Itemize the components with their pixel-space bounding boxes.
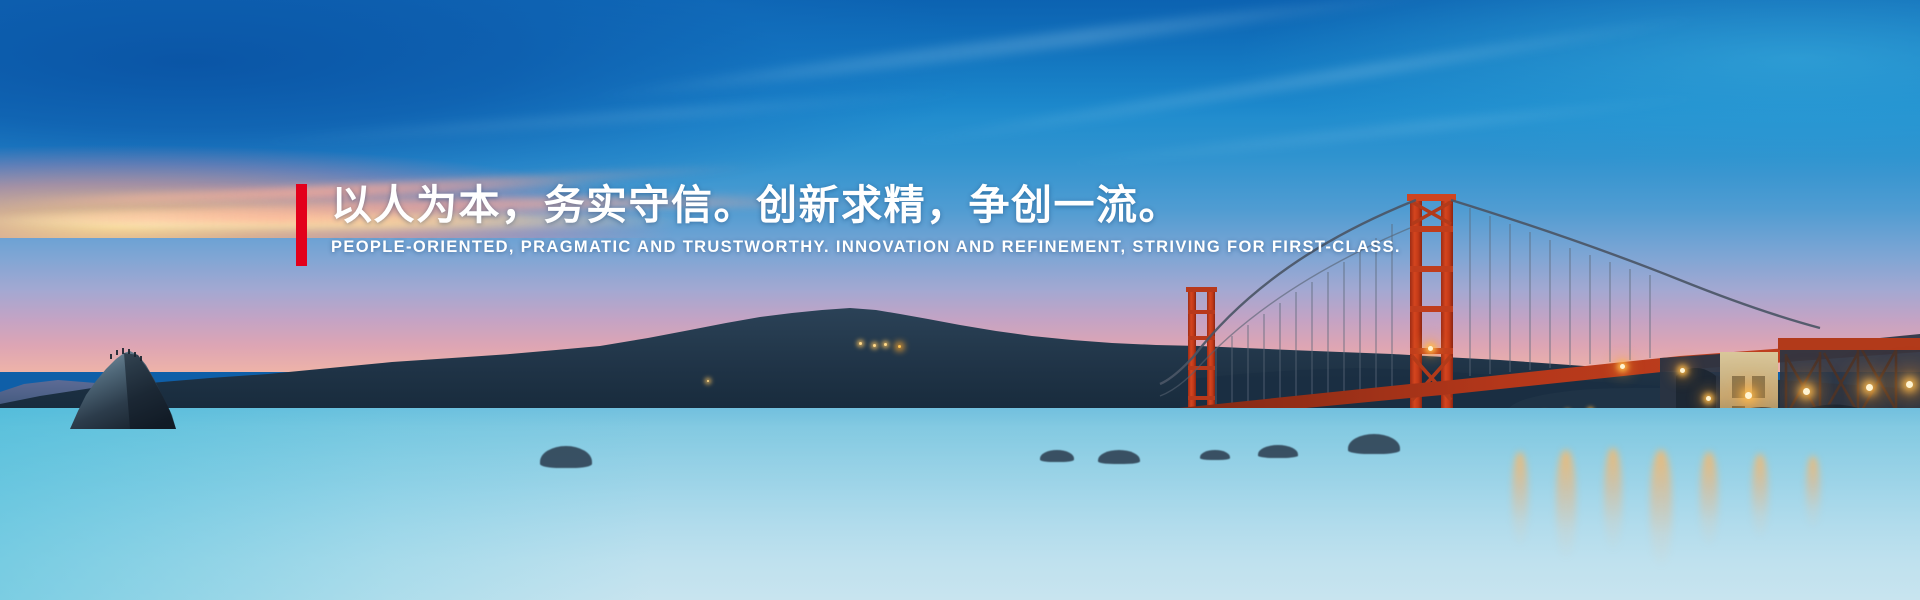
deck-light <box>1680 368 1685 373</box>
sea-rock <box>1200 450 1230 460</box>
deck-light <box>1620 364 1625 369</box>
page-subtitle: PEOPLE-ORIENTED, PRAGMATIC AND TRUSTWORT… <box>331 238 1401 258</box>
lamp-post-light <box>1803 388 1810 395</box>
ridge-light <box>707 380 709 382</box>
sea-rock <box>1098 450 1140 464</box>
ridge-light <box>884 343 887 346</box>
hero-copy-block: 以人为本，务实守信。创新求精，争创一流。 PEOPLE-ORIENTED, PR… <box>296 184 1401 266</box>
light-reflection <box>1604 448 1622 552</box>
water-surface <box>0 408 1920 600</box>
tower-beacon-light <box>1428 346 1433 351</box>
lamp-post-light <box>1706 396 1711 401</box>
light-reflection <box>1650 450 1672 568</box>
lamp-post-light <box>1906 381 1913 388</box>
light-reflection <box>1806 456 1820 530</box>
light-reflection <box>1512 452 1528 548</box>
sea-rock <box>1258 445 1298 458</box>
light-reflection <box>1752 454 1768 540</box>
lamp-post-light <box>1866 384 1873 391</box>
water-left-tint <box>0 408 653 600</box>
hero-banner: 以人为本，务实守信。创新求精，争创一流。 PEOPLE-ORIENTED, PR… <box>0 0 1920 600</box>
hero-copy-text: 以人为本，务实守信。创新求精，争创一流。 PEOPLE-ORIENTED, PR… <box>307 184 1401 266</box>
lamp-post-light <box>1745 392 1752 399</box>
light-reflection <box>1556 450 1576 560</box>
ridge-light <box>898 345 901 348</box>
sea-rock <box>1040 450 1074 462</box>
page-title: 以人为本，务实守信。创新求精，争创一流。 <box>331 184 1401 227</box>
accent-bar <box>296 184 307 266</box>
ridge-light <box>859 342 862 345</box>
light-reflection <box>1700 452 1718 548</box>
ridge-light <box>873 344 876 347</box>
foreground-rock <box>64 337 182 429</box>
